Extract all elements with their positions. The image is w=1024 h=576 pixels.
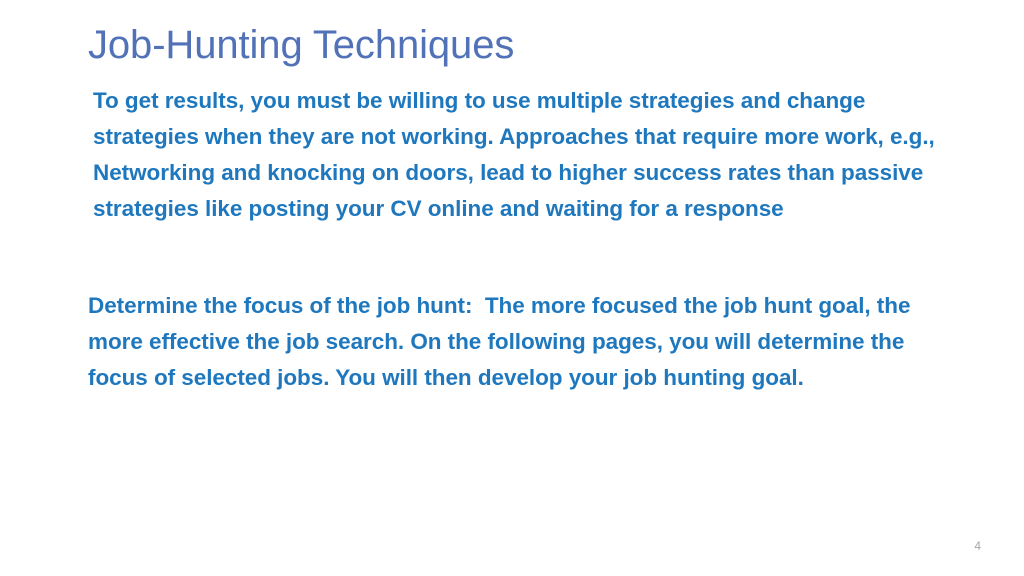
paragraph-one-line-1: To get results, you must be willing to u…: [93, 83, 973, 119]
paragraph-two-line-2: more effective the job search. On the fo…: [88, 324, 948, 360]
paragraph-one-line-2: strategies when they are not working. Ap…: [93, 119, 973, 155]
paragraph-one-line-3: Networking and knocking on doors, lead t…: [93, 155, 973, 191]
paragraph-one-line-4: strategies like posting your CV online a…: [93, 191, 973, 227]
presentation-slide: Job-Hunting Techniques To get results, y…: [0, 0, 1024, 576]
paragraph-two-line-3: focus of selected jobs. You will then de…: [88, 360, 948, 396]
page-title: Job-Hunting Techniques: [88, 21, 948, 69]
body-paragraph-two: Determine the focus of the job hunt: The…: [88, 288, 948, 396]
body-paragraph-one: To get results, you must be willing to u…: [93, 83, 973, 227]
slide-page-number: 4: [974, 539, 981, 553]
paragraph-two-line-1: Determine the focus of the job hunt: The…: [88, 288, 948, 324]
